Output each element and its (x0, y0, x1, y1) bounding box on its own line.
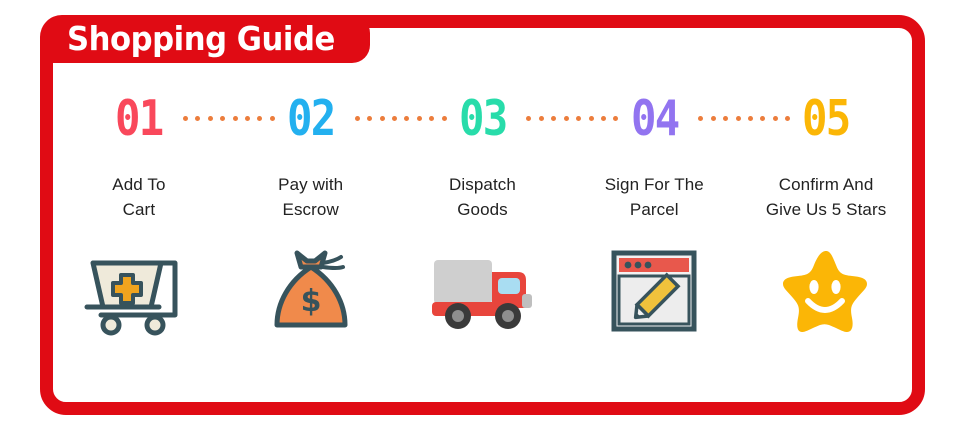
steps-row: 01 Add To Cart (53, 28, 912, 402)
step-add-to-cart: 01 Add To Cart (53, 90, 225, 340)
step-number-row: 03 (397, 90, 569, 146)
title-banner: Shopping Guide (40, 15, 370, 63)
step-number: 05 (802, 94, 849, 143)
delivery-truck-icon (423, 242, 541, 340)
step-number: 04 (631, 94, 678, 143)
step-sign-for-the-parcel: 04 Sign For The Parcel (568, 90, 740, 340)
step-number-row: 04 (568, 90, 740, 146)
page-title: Shopping Guide (67, 17, 335, 61)
step-label: Sign For The Parcel (605, 172, 704, 222)
smiling-star-icon (767, 242, 885, 340)
shopping-cart-icon (80, 242, 198, 340)
step-confirm-and-rate: 05 Confirm And Give Us 5 Stars (740, 90, 912, 340)
sign-document-icon (595, 242, 713, 340)
step-label: Pay with Escrow (278, 172, 343, 222)
step-number: 01 (115, 94, 162, 143)
step-number-row: 02 (225, 90, 397, 146)
step-label: Dispatch Goods (449, 172, 516, 222)
svg-text:$: $ (300, 284, 321, 319)
step-number-row: 05 (740, 90, 912, 146)
step-label: Confirm And Give Us 5 Stars (766, 172, 887, 222)
step-pay-with-escrow: 02 Pay with Escrow $ (225, 90, 397, 340)
shopping-guide-infographic: Shopping Guide 01 Add To Cart (0, 0, 959, 427)
step-number-row: 01 (53, 90, 225, 146)
step-number: 03 (459, 94, 506, 143)
money-bag-icon: $ (252, 242, 370, 340)
step-dispatch-goods: 03 Dispatch Goods (397, 90, 569, 340)
step-label: Add To Cart (112, 172, 165, 222)
step-number: 02 (287, 94, 334, 143)
